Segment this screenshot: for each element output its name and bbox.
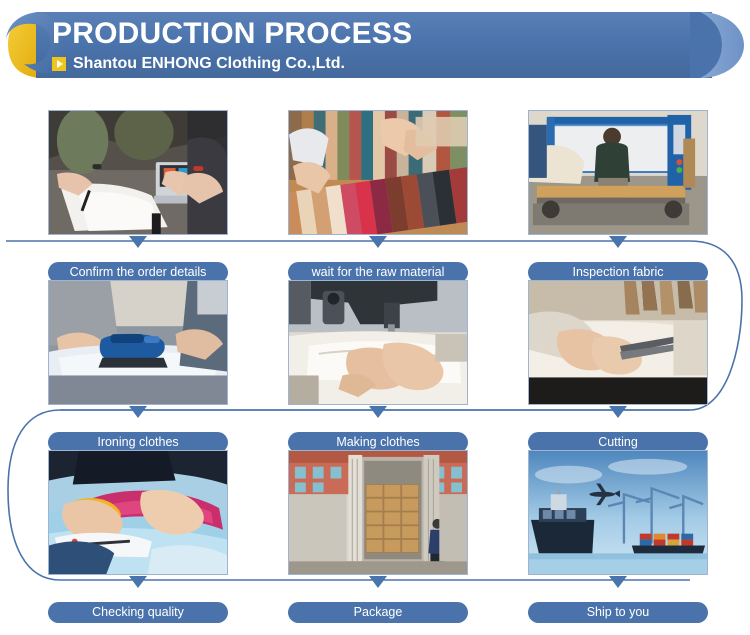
- step-5-label-text: Making clothes: [336, 436, 419, 449]
- step-7-label[interactable]: Checking quality: [48, 602, 228, 623]
- process-step-8[interactable]: Package: [288, 450, 468, 575]
- step-7-photo: [48, 450, 228, 575]
- step-3-arrow-icon: [609, 236, 627, 248]
- step-1-photo: [48, 110, 228, 235]
- process-step-5[interactable]: Making clothes: [288, 280, 468, 405]
- step-8-label[interactable]: Package: [288, 602, 468, 623]
- step-9-label-text: Ship to you: [587, 606, 650, 619]
- step-4-label-text: Ironing clothes: [97, 436, 178, 449]
- step-1-arrow-icon: [129, 236, 147, 248]
- step-6-arrow-icon: [609, 406, 627, 418]
- step-9-photo: [528, 450, 708, 575]
- step-3-label-text: Inspection fabric: [572, 266, 663, 279]
- step-7-label-text: Checking quality: [92, 606, 184, 619]
- process-step-2[interactable]: wait for the raw material: [288, 110, 468, 235]
- step-6-label-text: Cutting: [598, 436, 638, 449]
- step-8-arrow-icon: [369, 576, 387, 588]
- header-text-block: PRODUCTION PROCESS Shantou ENHONG Clothi…: [52, 18, 652, 72]
- process-step-1[interactable]: Confirm the order details: [48, 110, 228, 235]
- page-title: PRODUCTION PROCESS: [52, 18, 652, 50]
- step-4-photo: [48, 280, 228, 405]
- step-1-label-text: Confirm the order details: [70, 266, 207, 279]
- step-2-label-text: wait for the raw material: [312, 266, 445, 279]
- process-step-7[interactable]: Checking quality: [48, 450, 228, 575]
- step-8-photo: [288, 450, 468, 575]
- header-banner: PRODUCTION PROCESS Shantou ENHONG Clothi…: [0, 8, 750, 82]
- step-9-arrow-icon: [609, 576, 627, 588]
- process-step-9[interactable]: Ship to you: [528, 450, 708, 575]
- step-3-photo: [528, 110, 708, 235]
- step-7-arrow-icon: [129, 576, 147, 588]
- process-step-4[interactable]: Ironing clothes: [48, 280, 228, 405]
- infographic-root: PRODUCTION PROCESS Shantou ENHONG Clothi…: [0, 0, 750, 635]
- step-8-label-text: Package: [354, 606, 403, 619]
- process-step-3[interactable]: Inspection fabric: [528, 110, 708, 235]
- step-2-arrow-icon: [369, 236, 387, 248]
- company-name-row: Shantou ENHONG Clothing Co.,Ltd.: [52, 55, 652, 72]
- step-5-arrow-icon: [369, 406, 387, 418]
- step-4-arrow-icon: [129, 406, 147, 418]
- play-icon: [52, 57, 66, 71]
- step-6-photo: [528, 280, 708, 405]
- step-9-label[interactable]: Ship to you: [528, 602, 708, 623]
- process-step-6[interactable]: Cutting: [528, 280, 708, 405]
- step-5-photo: [288, 280, 468, 405]
- company-name: Shantou ENHONG Clothing Co.,Ltd.: [73, 55, 345, 72]
- step-2-photo: [288, 110, 468, 235]
